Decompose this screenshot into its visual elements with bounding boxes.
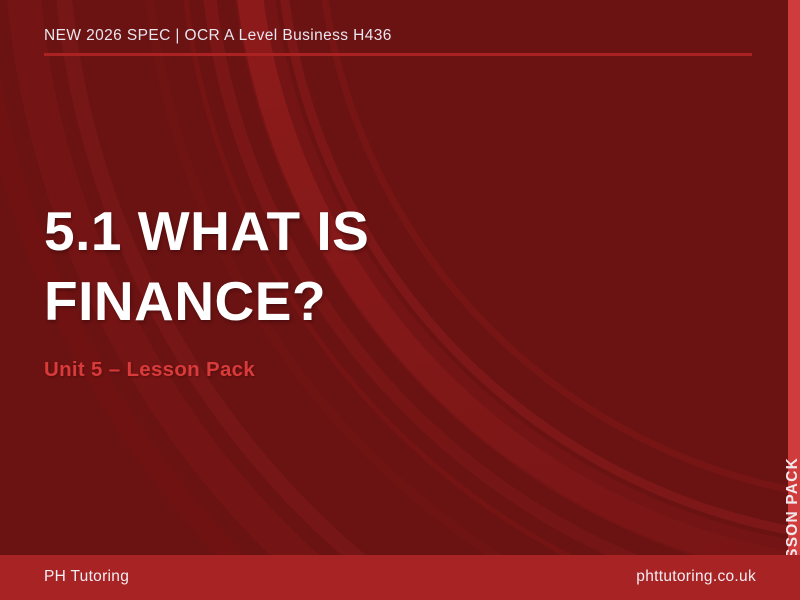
spec-eyebrow-text: NEW 2026 SPEC | OCR A Level Business H43…: [44, 26, 754, 46]
footer-brand-name: PH Tutoring: [44, 568, 129, 586]
slide-footer: PH Tutoring phttutoring.co.uk: [0, 555, 800, 600]
title-slide: NEW 2026 SPEC | OCR A Level Business H43…: [0, 0, 800, 600]
page-title: 5.1 WHAT IS FINANCE?: [44, 196, 604, 336]
footer-website-url[interactable]: phttutoring.co.uk: [636, 568, 756, 586]
header-divider-rule: [44, 53, 752, 56]
slide-header: NEW 2026 SPEC | OCR A Level Business H43…: [44, 26, 754, 46]
title-block: 5.1 WHAT IS FINANCE? Unit 5 – Lesson Pac…: [44, 196, 604, 383]
page-subtitle: Unit 5 – Lesson Pack: [44, 357, 604, 383]
